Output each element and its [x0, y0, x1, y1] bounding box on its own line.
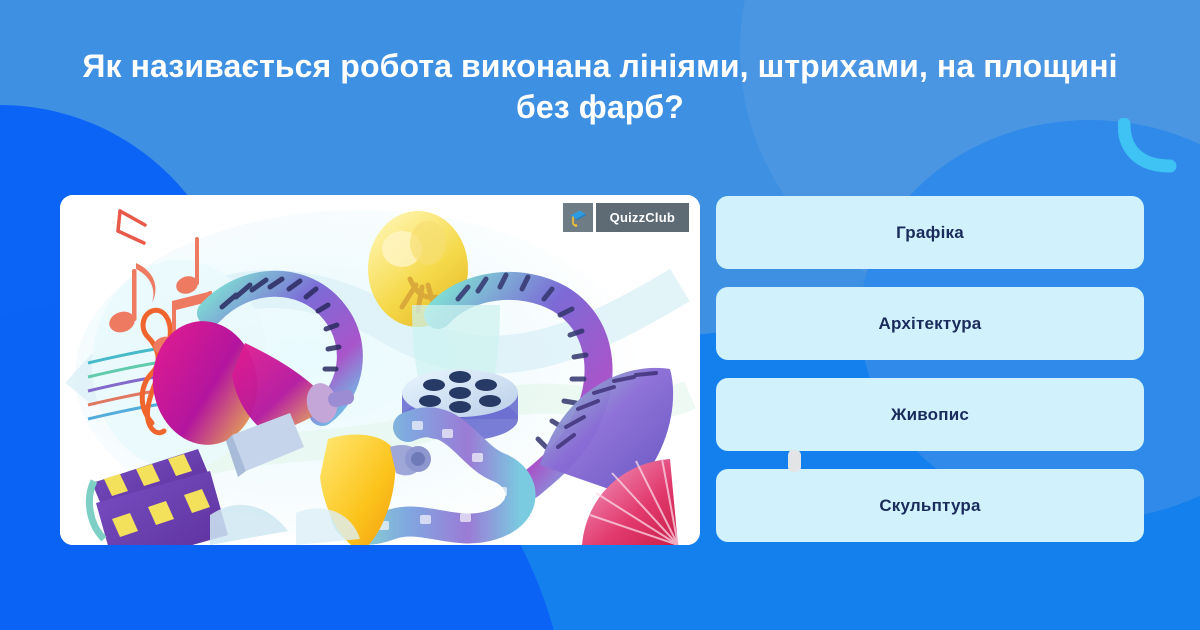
watermark: QuizzClub	[563, 203, 689, 232]
watermark-label: QuizzClub	[596, 203, 689, 232]
answer-option-4[interactable]: Скульптура	[716, 469, 1144, 542]
quizzclub-logo-badge	[563, 203, 593, 232]
graduation-cap-icon	[568, 208, 588, 228]
quiz-card: Як називається робота виконана лініями, …	[0, 0, 1200, 630]
answer-option-1-label: Графіка	[896, 223, 964, 243]
question-image-card: QuizzClub	[60, 195, 700, 545]
answer-option-1[interactable]: Графіка	[716, 196, 1144, 269]
answer-option-2[interactable]: Архітектура	[716, 287, 1144, 360]
text-cursor	[788, 450, 801, 472]
answer-option-3-label: Живопис	[891, 405, 969, 425]
answer-option-2-label: Архітектура	[879, 314, 982, 334]
arts-collage-illustration	[60, 195, 700, 545]
answer-option-3[interactable]: Живопис	[716, 378, 1144, 451]
answer-options: Графіка Архітектура Живопис Скульптура	[716, 196, 1144, 542]
question-title: Як називається робота виконана лініями, …	[60, 46, 1140, 128]
answer-option-4-label: Скульптура	[879, 496, 980, 516]
